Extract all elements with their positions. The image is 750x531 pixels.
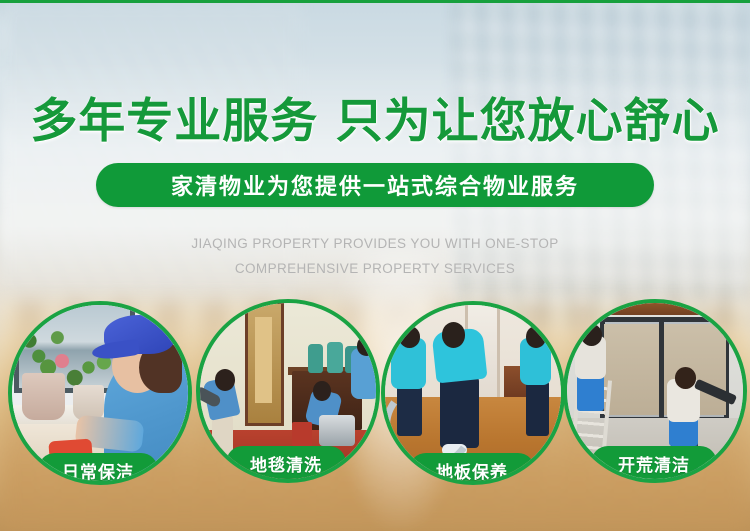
top-green-rule	[0, 0, 750, 3]
service-label-daily-cleaning: 日常保洁	[38, 453, 158, 485]
service-card-post-construction-cleaning[interactable]: 开荒清洁	[563, 299, 747, 483]
service-photo-ring: 开荒清洁	[563, 299, 747, 483]
english-subtitle-line-2: COMPREHENSIVE PROPERTY SERVICES	[0, 256, 750, 281]
service-card-floor-maintenance[interactable]: 地板保养	[381, 301, 565, 485]
tagline-text: 家清物业为您提供一站式综合物业服务	[171, 169, 579, 201]
service-photo-ring: 地板保养	[381, 301, 565, 485]
service-card-carpet-cleaning[interactable]: 地毯清洗	[196, 299, 380, 483]
page-title: 多年专业服务 只为让您放心舒心	[0, 82, 750, 151]
service-label-floor-maintenance: 地板保养	[409, 453, 535, 485]
service-label-carpet-cleaning: 地毯清洗	[226, 446, 346, 480]
english-subtitle: JIAQING PROPERTY PROVIDES YOU WITH ONE-S…	[0, 231, 750, 281]
service-card-daily-cleaning[interactable]: 日常保洁	[8, 301, 192, 485]
service-promo-banner: 多年专业服务 只为让您放心舒心 家清物业为您提供一站式综合物业服务 JIAQIN…	[0, 0, 750, 531]
service-photo-ring: 日常保洁	[8, 301, 192, 485]
service-label-post-construction-cleaning: 开荒清洁	[591, 446, 717, 480]
tagline-pill: 家清物业为您提供一站式综合物业服务	[96, 163, 654, 207]
english-subtitle-line-1: JIAQING PROPERTY PROVIDES YOU WITH ONE-S…	[0, 231, 750, 256]
service-circle-row: 日常保洁	[0, 299, 750, 494]
service-photo-ring: 地毯清洗	[196, 299, 380, 483]
